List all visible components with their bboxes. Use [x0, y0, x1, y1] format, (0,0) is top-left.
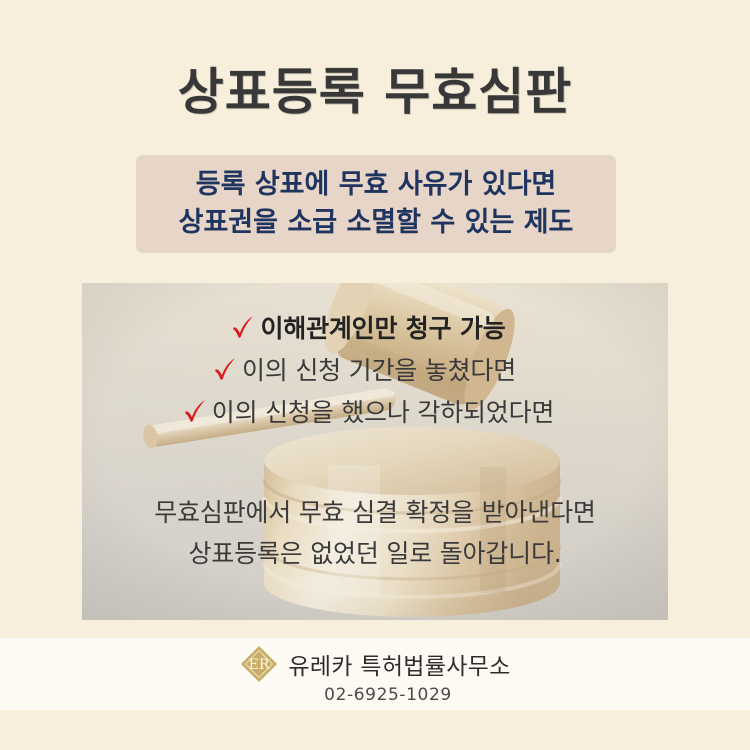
- footer-band: ER 유레카 특허법률사무소 02-6925-1029: [0, 638, 750, 710]
- checklist-item-label: 이의 신청을 했으나 각하되었다면: [212, 393, 554, 429]
- brand-name: 유레카 특허법률사무소: [288, 647, 510, 681]
- checklist-item: 이해관계인만 청구 가능: [82, 306, 668, 348]
- conclusion-line-2: 상표등록은 없었던 일로 돌아갑니다.: [82, 534, 668, 575]
- brand-row: ER 유레카 특허법률사무소: [239, 644, 510, 684]
- phone-number: 02-6925-1029: [324, 685, 452, 705]
- gavel-photo: 이해관계인만 청구 가능 이의 신청 기간을 놓쳤다면 이의 신청을 했으나 각…: [82, 283, 668, 620]
- checklist-item-label: 이의 신청 기간을 놓쳤다면: [242, 351, 516, 387]
- checklist-item-label: 이해관계인만 청구 가능: [260, 309, 505, 345]
- checklist-item: 이의 신청 기간을 놓쳤다면: [82, 348, 668, 390]
- diamond-monogram-logo-icon: ER: [239, 644, 279, 684]
- checklist: 이해관계인만 청구 가능 이의 신청 기간을 놓쳤다면 이의 신청을 했으나 각…: [82, 306, 668, 432]
- infographic-card: 상표등록 무효심판 등록 상표에 무효 사유가 있다면 상표권을 소급 소멸할 …: [0, 0, 750, 750]
- conclusion-line-1: 무효심판에서 무효 심결 확정을 받아낸다면: [82, 493, 668, 534]
- check-icon: [182, 398, 208, 424]
- banner-line-2: 상표권을 소급 소멸할 수 있는 제도: [179, 205, 574, 241]
- summary-banner: 등록 상표에 무효 사유가 있다면 상표권을 소급 소멸할 수 있는 제도: [136, 155, 616, 253]
- banner-line-1: 등록 상표에 무효 사유가 있다면: [196, 167, 557, 203]
- page-title: 상표등록 무효심판: [0, 52, 750, 124]
- check-icon: [212, 356, 238, 382]
- check-icon: [230, 314, 256, 340]
- logo-monogram-text: ER: [249, 657, 270, 673]
- conclusion-text: 무효심판에서 무효 심결 확정을 받아낸다면 상표등록은 없었던 일로 돌아갑니…: [82, 493, 668, 574]
- checklist-item: 이의 신청을 했으나 각하되었다면: [82, 390, 668, 432]
- footer-content: ER 유레카 특허법률사무소 02-6925-1029: [0, 638, 750, 710]
